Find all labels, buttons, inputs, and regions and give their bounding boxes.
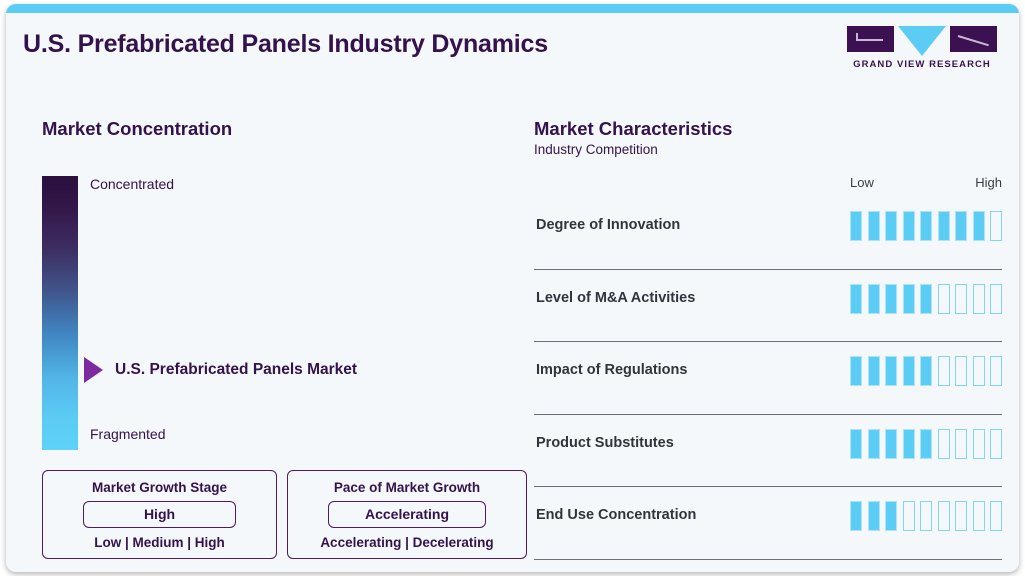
rating-tick-empty [938, 356, 950, 386]
rating-tick-filled [920, 429, 932, 459]
rating-tick-empty [938, 501, 950, 531]
characteristic-label: Product Substitutes [536, 435, 674, 451]
rating-tick-filled [903, 211, 915, 241]
infographic-card: U.S. Prefabricated Panels Industry Dynam… [6, 4, 1019, 572]
rating-tick-filled [920, 356, 932, 386]
rating-tick-filled [868, 501, 880, 531]
page-title: U.S. Prefabricated Panels Industry Dynam… [23, 30, 548, 59]
rating-tick-filled [903, 356, 915, 386]
characteristic-row: Degree of Innovation [534, 197, 1002, 270]
rating-tick-filled [850, 284, 862, 314]
rating-tick-filled [903, 429, 915, 459]
market-position-label: U.S. Prefabricated Panels Market [115, 361, 357, 379]
marker-arrow-icon [84, 357, 103, 383]
characteristic-rating-bars [850, 284, 1002, 314]
rating-tick-empty [955, 356, 967, 386]
rating-tick-filled [885, 501, 897, 531]
logo-triangle-icon [898, 26, 946, 56]
pace-of-market-growth-scale: Accelerating | Decelerating [302, 535, 512, 550]
market-position-marker: U.S. Prefabricated Panels Market [84, 357, 357, 383]
characteristic-row: Level of M&A Activities [534, 270, 1002, 343]
rating-tick-filled [868, 284, 880, 314]
market-characteristics-panel: Market Characteristics Industry Competit… [534, 118, 1002, 560]
rating-tick-filled [973, 211, 985, 241]
rating-tick-empty [938, 429, 950, 459]
rating-tick-filled [955, 211, 967, 241]
market-concentration-panel: Market Concentration Concentrated Fragme… [42, 118, 512, 456]
characteristic-label: Level of M&A Activities [536, 290, 695, 306]
rating-tick-empty [973, 501, 985, 531]
market-characteristics-subtitle: Industry Competition [534, 142, 1002, 157]
rating-tick-empty [920, 501, 932, 531]
growth-stat-boxes: Market Growth Stage High Low | Medium | … [42, 470, 527, 559]
rating-tick-empty [938, 284, 950, 314]
grand-view-research-logo: GRAND VIEW RESEARCH [847, 26, 997, 70]
characteristic-row: End Use Concentration [534, 487, 1002, 560]
rating-tick-filled [850, 356, 862, 386]
rating-tick-filled [850, 429, 862, 459]
characteristic-rating-bars [850, 501, 1002, 531]
pace-of-market-growth-value: Accelerating [328, 501, 486, 528]
rating-tick-empty [990, 211, 1002, 241]
rating-tick-filled [850, 501, 862, 531]
rating-tick-empty [903, 501, 915, 531]
logo-g-mark-icon [847, 26, 894, 52]
rating-tick-empty [990, 501, 1002, 531]
market-characteristics-title: Market Characteristics [534, 118, 1002, 140]
scale-low-label: Low [850, 175, 874, 190]
rating-tick-filled [885, 211, 897, 241]
characteristic-label: End Use Concentration [536, 507, 696, 523]
rating-tick-empty [990, 356, 1002, 386]
rating-tick-filled [920, 284, 932, 314]
pace-of-market-growth-box: Pace of Market Growth Accelerating Accel… [287, 470, 527, 559]
concentration-bottom-label: Fragmented [90, 426, 165, 442]
pace-of-market-growth-heading: Pace of Market Growth [302, 480, 512, 495]
rating-tick-filled [903, 284, 915, 314]
rating-tick-empty [990, 429, 1002, 459]
rating-tick-empty [973, 429, 985, 459]
market-growth-stage-value: High [83, 501, 236, 528]
concentration-gradient-bar [42, 176, 78, 450]
rating-tick-filled [885, 356, 897, 386]
rating-tick-empty [955, 284, 967, 314]
characteristic-rating-bars [850, 211, 1002, 241]
market-growth-stage-box: Market Growth Stage High Low | Medium | … [42, 470, 277, 559]
market-concentration-title: Market Concentration [42, 118, 512, 140]
rating-tick-filled [868, 429, 880, 459]
rating-tick-filled [938, 211, 950, 241]
rating-tick-filled [868, 211, 880, 241]
rating-tick-empty [990, 284, 1002, 314]
market-growth-stage-scale: Low | Medium | High [57, 535, 262, 550]
characteristic-label: Degree of Innovation [536, 217, 680, 233]
logo-marks [847, 26, 997, 55]
concentration-top-label: Concentrated [90, 176, 174, 192]
rating-tick-empty [955, 501, 967, 531]
rating-tick-filled [920, 211, 932, 241]
characteristic-rating-bars [850, 429, 1002, 459]
scale-high-label: High [975, 175, 1002, 190]
characteristic-row: Product Substitutes [534, 415, 1002, 488]
rating-tick-filled [885, 284, 897, 314]
rating-tick-empty [973, 284, 985, 314]
rating-tick-filled [850, 211, 862, 241]
top-accent-bar [6, 4, 1019, 13]
characteristic-row: Impact of Regulations [534, 342, 1002, 415]
characteristic-rating-bars [850, 356, 1002, 386]
rating-tick-empty [955, 429, 967, 459]
market-growth-stage-heading: Market Growth Stage [57, 480, 262, 495]
rating-tick-empty [973, 356, 985, 386]
logo-wordmark: GRAND VIEW RESEARCH [847, 59, 997, 70]
characteristics-rows: Degree of InnovationLevel of M&A Activit… [534, 197, 1002, 560]
rating-tick-filled [885, 429, 897, 459]
rating-tick-filled [868, 356, 880, 386]
characteristics-scale-header: Low High [534, 175, 1002, 197]
characteristic-label: Impact of Regulations [536, 362, 687, 378]
logo-r-mark-icon [950, 26, 997, 52]
concentration-scale: Concentrated Fragmented U.S. Prefabricat… [42, 176, 512, 456]
